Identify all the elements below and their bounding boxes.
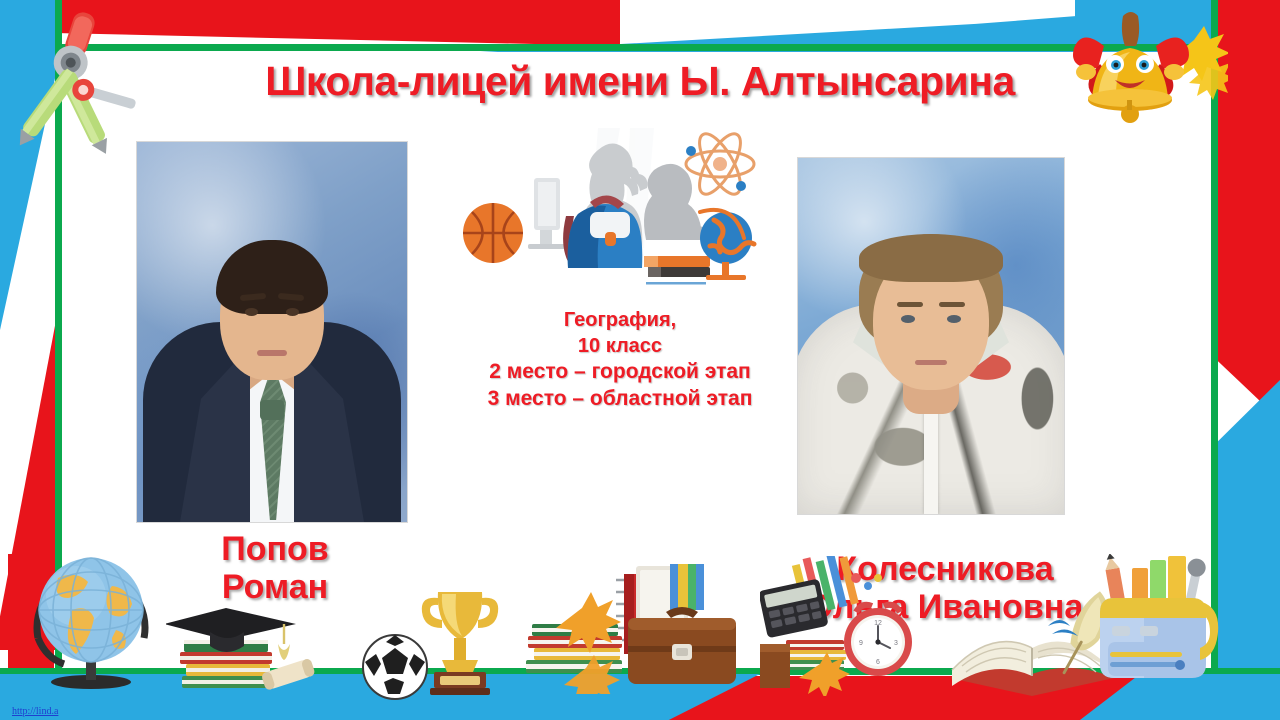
svg-text:9: 9 [859,640,863,647]
compass-divider-icon [12,8,172,158]
globe-icon [16,542,166,692]
orange-books-icon [644,256,710,285]
mouth [257,350,287,356]
mouth [915,360,947,365]
alarm-clock-icon: 123 69 [844,605,912,676]
basketball-icon [463,203,523,263]
backpack-icon [1084,554,1234,694]
trophy-icon [412,582,508,698]
hair-top [859,234,1003,282]
svg-text:6: 6 [876,659,880,666]
caption-award-region: 3 место – областной этап [410,386,830,413]
source-url-link[interactable]: http://lind.a [12,706,58,717]
eye-left [245,308,258,316]
eye-right [947,315,961,323]
graduation-cap-books-icon [166,578,316,698]
award-caption: География, 10 класс 2 место – городской … [410,308,830,413]
tie-knot [260,400,284,420]
eye-left [901,315,915,323]
poster-canvas: Школа-лицей имени Ы. Алтынсарина [0,0,1280,720]
calculator-icon: 123 69 [760,556,960,696]
student-last-name: Попов [150,530,400,568]
school-bell-icon [1060,6,1228,146]
portrait-teacher [797,157,1065,515]
briefcase-icon [622,600,742,696]
computer-monitor-icon [528,178,566,249]
eye-right [286,308,299,316]
caption-grade: 10 класс [410,334,830,360]
caption-award-city: 2 место – городской этап [410,359,830,386]
svg-text:3: 3 [894,640,898,647]
eyebrow-left [897,302,923,307]
caption-subject: География, [410,308,830,334]
school-supplies-illustration [448,128,768,298]
eyebrow-right [939,302,965,307]
svg-text:12: 12 [874,620,882,627]
portrait-student [136,141,408,523]
